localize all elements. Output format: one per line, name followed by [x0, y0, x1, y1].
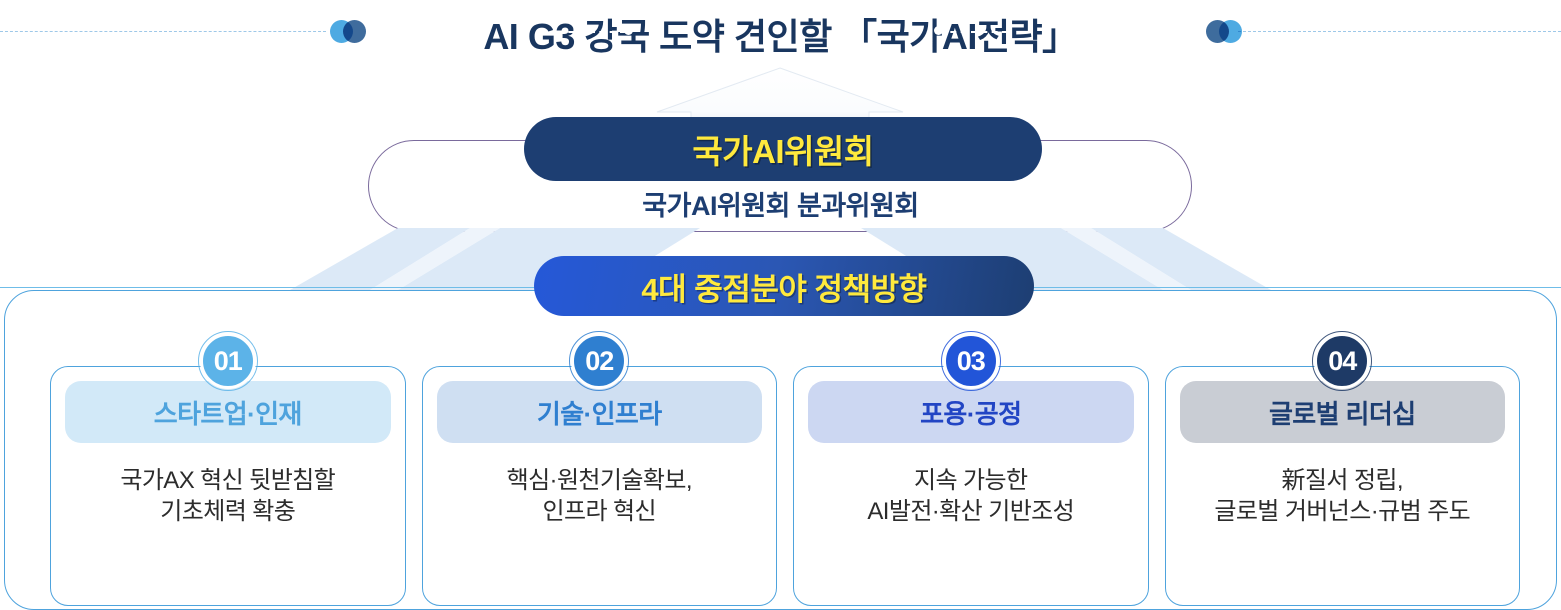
card-body: 국가AX 혁신 뒷받침할 기초체력 확충	[51, 465, 405, 527]
focus-banner-label: 4대 중점분야 정책방향	[641, 264, 926, 309]
card-title: 포용·공정	[920, 394, 1021, 431]
focus-banner[interactable]: 4대 중점분야 정책방향	[534, 256, 1034, 316]
council-subtitle: 국가AI위원회 분과위원회	[0, 184, 1561, 223]
policy-card-row: 01 스타트업·인재 국가AX 혁신 뒷받침할 기초체력 확충 02 기술·인프…	[50, 366, 1520, 606]
policy-card-01[interactable]: 01 스타트업·인재 국가AX 혁신 뒷받침할 기초체력 확충	[50, 366, 406, 606]
policy-card-03[interactable]: 03 포용·공정 지속 가능한 AI발전·확산 기반조성	[793, 366, 1149, 606]
policy-card-02[interactable]: 02 기술·인프라 핵심·원천기술확보, 인프라 혁신	[422, 366, 778, 606]
infographic-canvas: AI G3 강국 도약 견인할 「국가AI전략」	[0, 0, 1561, 592]
card-body: 지속 가능한 AI발전·확산 기반조성	[794, 465, 1148, 527]
card-badge-01: 01	[200, 333, 256, 389]
council-connector-left	[558, 31, 626, 33]
card-title: 스타트업·인재	[154, 394, 302, 431]
council-name: 국가AI위원회	[692, 125, 873, 173]
council-connector-right	[940, 31, 1008, 33]
connector-dot-right	[934, 26, 943, 35]
card-badge-04: 04	[1314, 333, 1370, 389]
band-rule-left	[0, 287, 560, 288]
card-badge-number: 01	[214, 346, 242, 377]
page-title: AI G3 강국 도약 견인할 「국가AI전략」	[0, 8, 1561, 60]
card-badge-03: 03	[943, 333, 999, 389]
card-badge-number: 02	[585, 346, 613, 377]
band-rule-right	[1001, 287, 1561, 288]
council-pill[interactable]: 국가AI위원회	[524, 117, 1042, 181]
card-badge-02: 02	[571, 333, 627, 389]
card-body: 핵심·원천기술확보, 인프라 혁신	[423, 465, 777, 527]
connector-dot-left	[624, 26, 633, 35]
policy-card-04[interactable]: 04 글로벌 리더십 新질서 정립, 글로벌 거버넌스·규범 주도	[1165, 366, 1521, 606]
card-body: 新질서 정립, 글로벌 거버넌스·규범 주도	[1166, 465, 1520, 527]
card-title: 글로벌 리더십	[1269, 394, 1416, 431]
card-title: 기술·인프라	[537, 394, 662, 431]
card-badge-number: 03	[957, 346, 985, 377]
card-badge-number: 04	[1328, 346, 1356, 377]
